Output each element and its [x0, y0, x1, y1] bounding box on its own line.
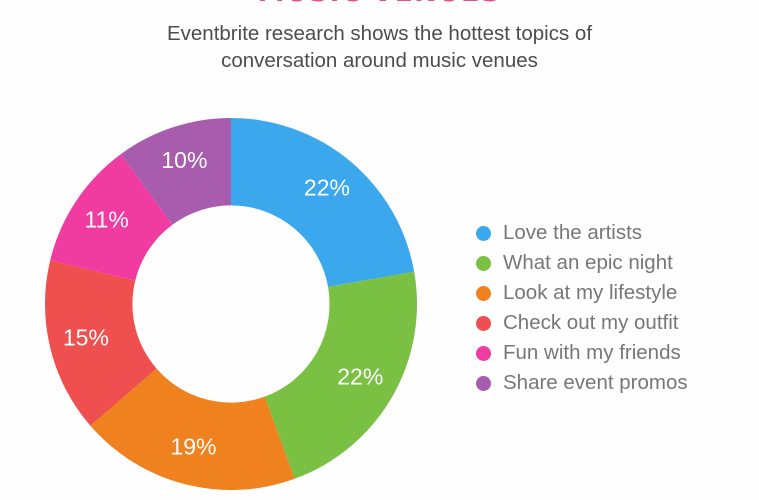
chart-legend: Love the artistsWhat an epic nightLook a… [476, 218, 756, 398]
donut-slices [45, 118, 417, 490]
legend-item-label: Love the artists [503, 221, 642, 245]
slice-value-label: 10% [161, 147, 207, 173]
subtitle-line-1: Eventbrite research shows the hottest to… [0, 20, 759, 47]
donut-chart: 22%22%19%15%11%10% [45, 118, 417, 490]
subtitle-line-2: conversation around music venues [0, 47, 759, 74]
legend-color-swatch-icon [476, 316, 491, 331]
page-title: MUSIC VENUES [0, 0, 759, 8]
legend-item-label: What an epic night [503, 251, 673, 275]
legend-color-swatch-icon [476, 376, 491, 391]
legend-color-swatch-icon [476, 256, 491, 271]
legend-item-label: Check out my outfit [503, 311, 678, 335]
legend-item[interactable]: Look at my lifestyle [476, 278, 756, 308]
legend-item-label: Share event promos [503, 371, 688, 395]
legend-item[interactable]: Check out my outfit [476, 308, 756, 338]
donut-slice[interactable] [231, 118, 414, 287]
legend-item[interactable]: Love the artists [476, 218, 756, 248]
slice-value-label: 22% [337, 364, 383, 390]
legend-item[interactable]: Share event promos [476, 368, 756, 398]
donut-chart-svg: 22%22%19%15%11%10% [45, 118, 417, 490]
legend-item-label: Fun with my friends [503, 341, 681, 365]
legend-item[interactable]: What an epic night [476, 248, 756, 278]
slice-value-label: 15% [63, 324, 109, 350]
legend-color-swatch-icon [476, 226, 491, 241]
chart-subtitle: Eventbrite research shows the hottest to… [0, 20, 759, 74]
legend-color-swatch-icon [476, 346, 491, 361]
legend-item-label: Look at my lifestyle [503, 281, 677, 305]
slice-value-label: 11% [85, 206, 129, 232]
legend-color-swatch-icon [476, 286, 491, 301]
infographic-page: MUSIC VENUES Eventbrite research shows t… [0, 0, 759, 500]
slice-value-label: 22% [304, 175, 350, 201]
legend-item[interactable]: Fun with my friends [476, 338, 756, 368]
slice-value-label: 19% [170, 434, 216, 460]
